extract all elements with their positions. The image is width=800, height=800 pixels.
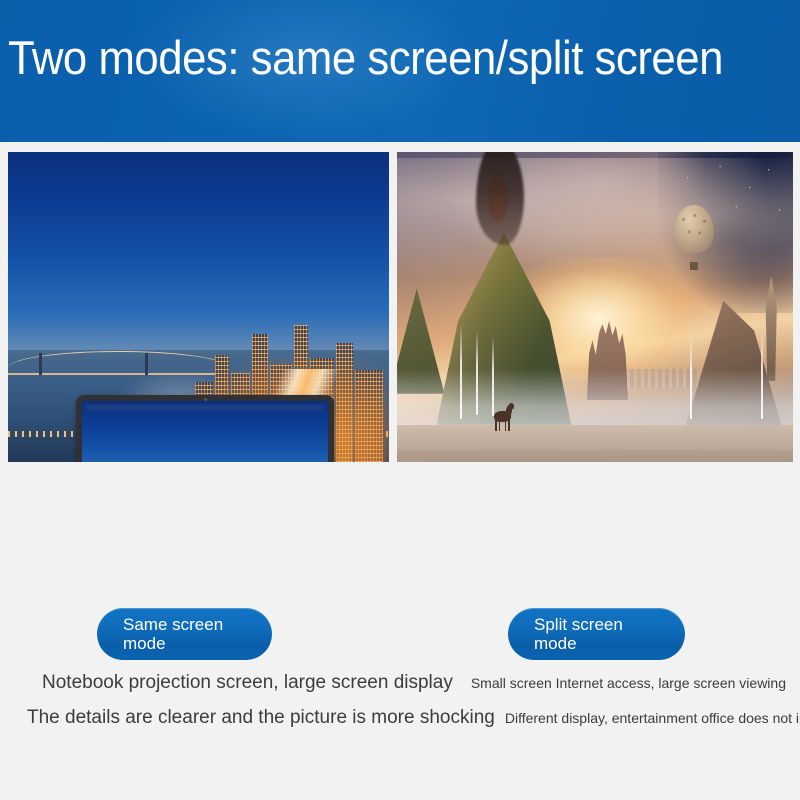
caption-left-secondary: The details are clearer and the picture … [27,707,495,729]
fantasy-landscape-photo [397,152,793,462]
badge-same-screen-mode[interactable]: Same screen mode [97,608,272,660]
horse-leg [499,420,501,431]
balloon-envelope [674,205,714,253]
horse-leg [505,420,507,431]
foreground-ground [397,425,793,462]
horse-leg [495,420,497,431]
horse-head [509,403,514,409]
caption-right-primary: Small screen Internet access, large scre… [471,675,786,691]
caption-row-2: The details are clearer and the picture … [0,707,800,729]
caption-left-primary: Notebook projection screen, large screen… [42,672,453,694]
laptop-screen [82,401,328,462]
hot-air-balloon [674,205,714,270]
badge-split-screen-mode-label: Split screen mode [508,615,623,653]
panels-row: MacBook Pro [0,152,800,464]
panel-same-screen: MacBook Pro [8,152,389,462]
mirrored-city-skyline [82,401,328,462]
page-root: Two modes: same screen/split screen [0,0,800,800]
horse-leg [508,420,510,431]
laptop-shadow [86,406,323,410]
panel-split-screen: TMALL 天猫 [397,152,793,462]
laptop-same-screen: MacBook Pro [76,395,334,462]
badge-same-screen-mode-label: Same screen mode [97,615,223,653]
balloon-basket [690,262,698,270]
page-title: Two modes: same screen/split screen [8,28,723,88]
volcano-smoke-plume [476,152,524,245]
bridge-tower [145,353,148,375]
caption-row-1: Notebook projection screen, large screen… [0,672,800,694]
bridge-tower [39,353,42,375]
page-header: Two modes: same screen/split screen [0,0,800,142]
badge-split-screen-mode[interactable]: Split screen mode [508,608,685,660]
running-horse [492,403,514,431]
caption-right-secondary: Different display, entertainment office … [505,710,800,726]
